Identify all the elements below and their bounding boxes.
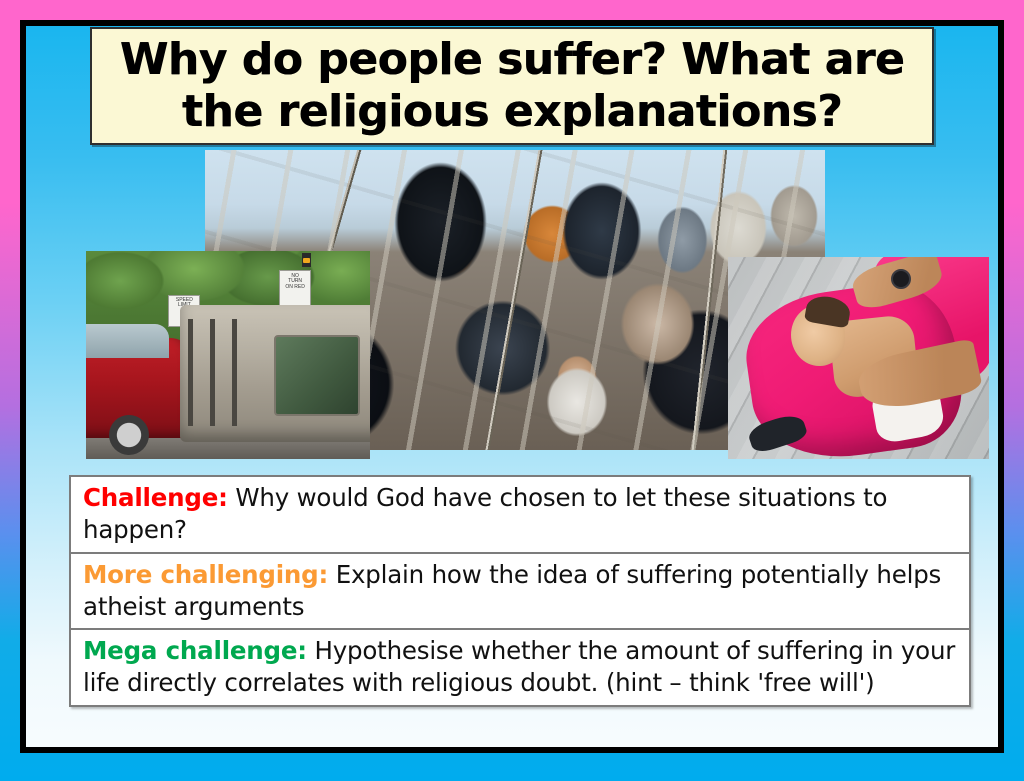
slide-outer-frame: Why do people suffer? What are the relig… (0, 0, 1024, 781)
car-wheel (109, 415, 149, 455)
slide-canvas: Why do people suffer? What are the relig… (20, 20, 1004, 753)
page-title: Why do people suffer? What are the relig… (92, 34, 932, 138)
wristwatch-icon (891, 269, 911, 289)
traffic-signal-icon (302, 253, 311, 267)
challenge-list: Challenge: Why would God have chosen to … (69, 475, 971, 707)
car-crash-photo: SPEEDLIMIT NOTURNON RED (86, 251, 370, 459)
challenge-text: Mega challenge: Hypothesise whether the … (83, 635, 959, 699)
van-door-rail (188, 319, 193, 426)
challenge-row: Mega challenge: Hypothesise whether the … (71, 630, 969, 705)
challenge-row: More challenging: Explain how the idea o… (71, 554, 969, 631)
van-window (274, 335, 360, 416)
no-turn-on-red-sign: NOTURNON RED (279, 270, 311, 309)
challenge-label: Mega challenge: (83, 636, 307, 665)
overturned-van (180, 305, 370, 442)
title-box: Why do people suffer? What are the relig… (90, 27, 934, 145)
challenge-text: Challenge: Why would God have chosen to … (83, 482, 959, 546)
malnourished-baby-photo (728, 257, 989, 459)
challenge-text: More challenging: Explain how the idea o… (83, 559, 959, 623)
challenge-label: More challenging: (83, 560, 328, 589)
challenge-label: Challenge: (83, 483, 228, 512)
challenge-row: Challenge: Why would God have chosen to … (71, 477, 969, 554)
